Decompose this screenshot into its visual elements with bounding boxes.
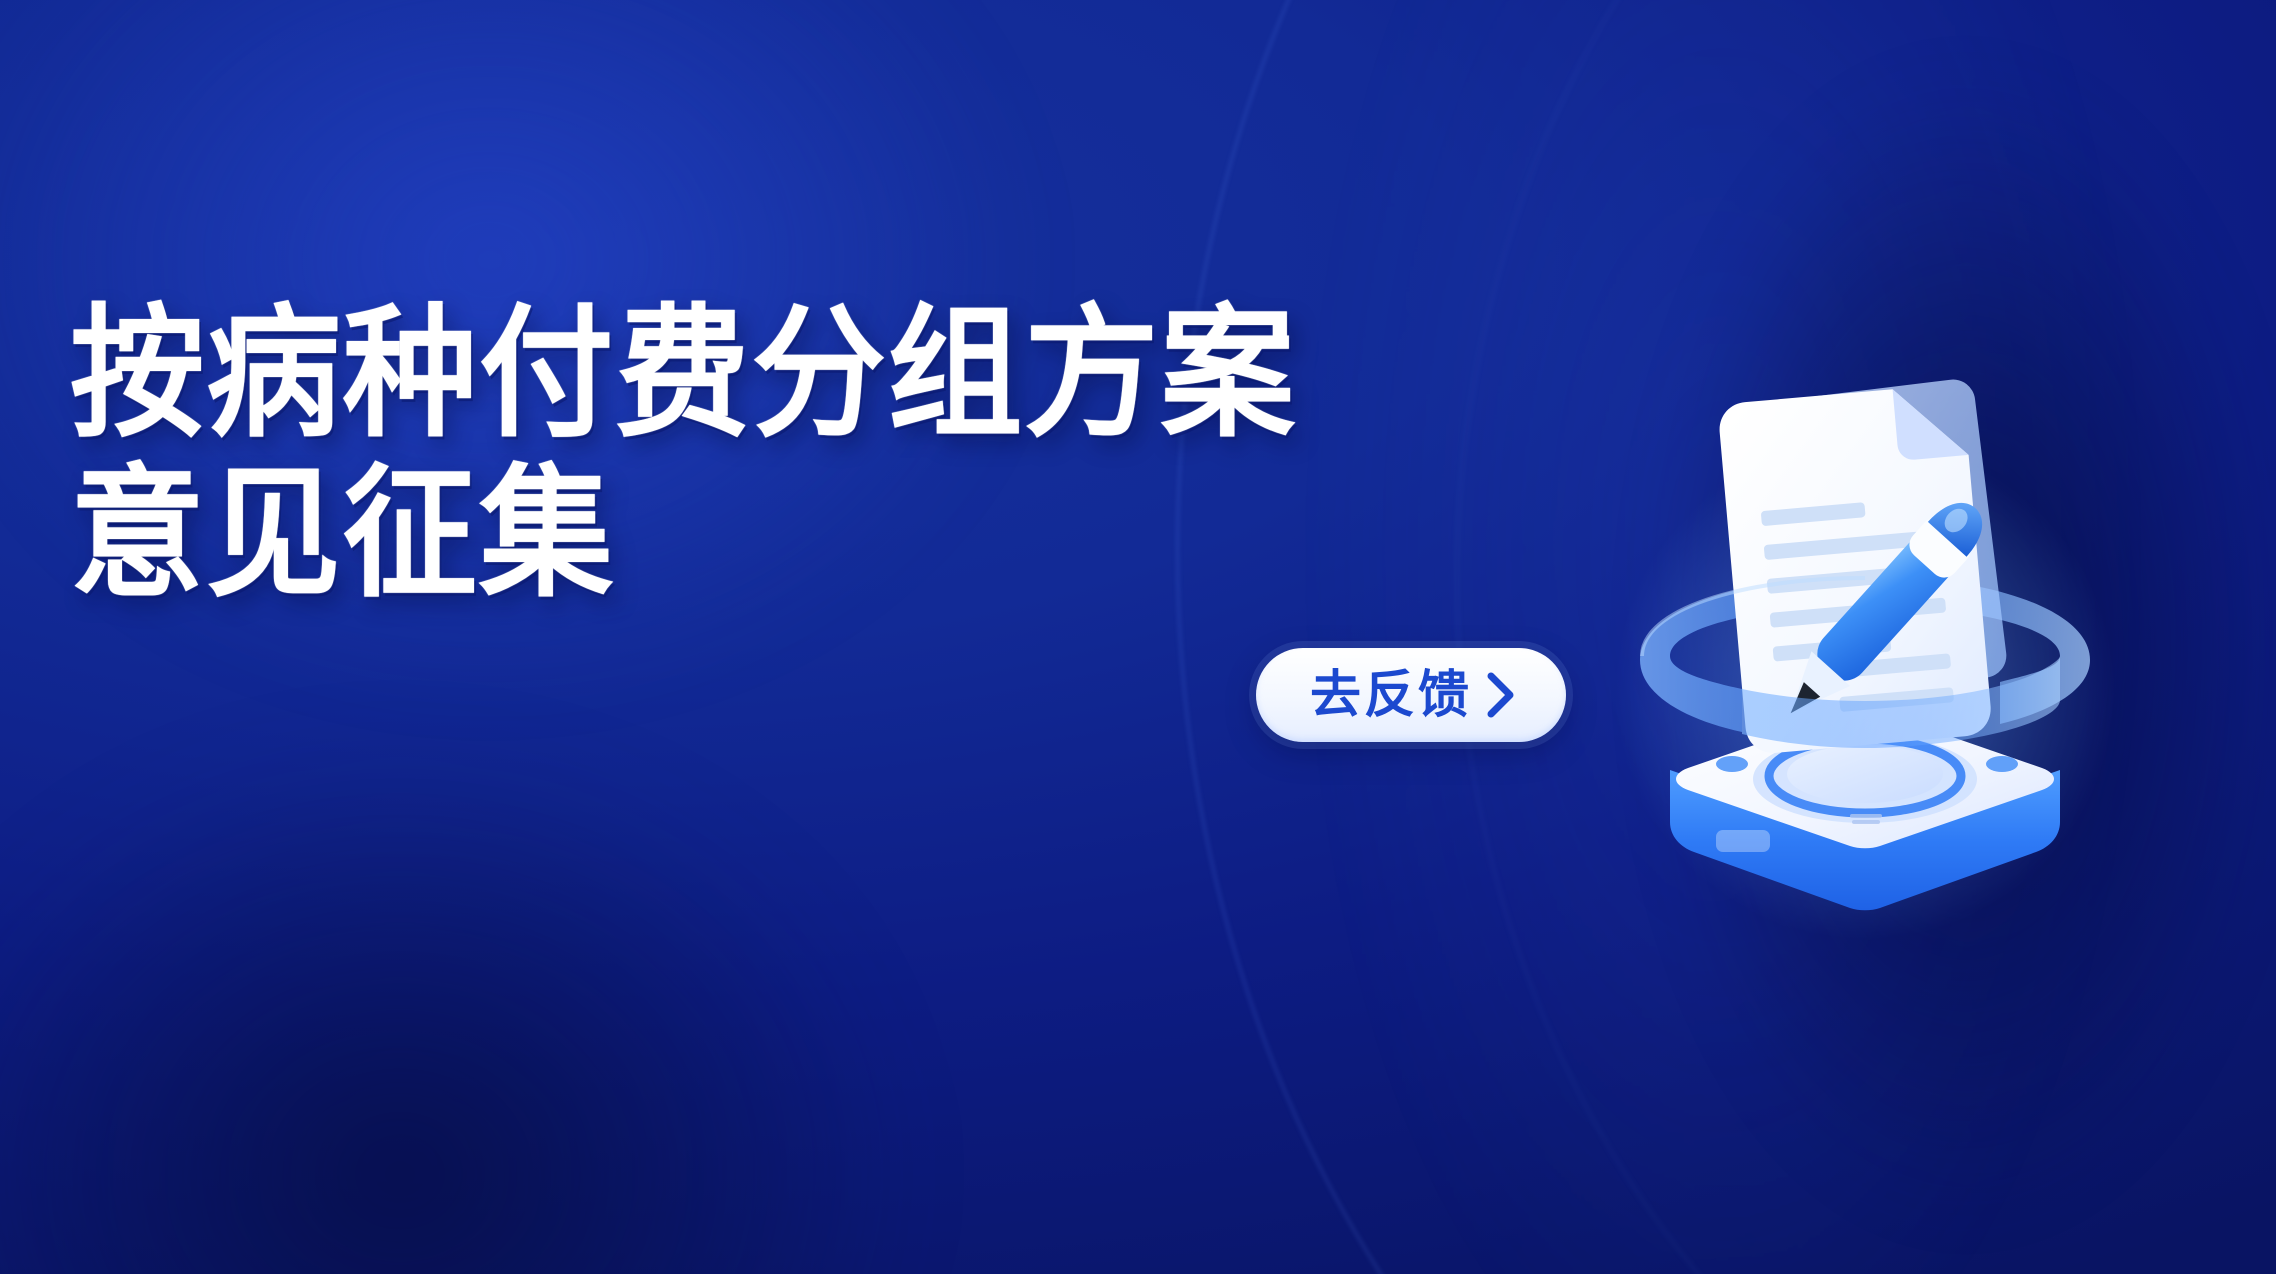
chevron-right-icon xyxy=(1486,672,1516,718)
background-vignette-bottom-left xyxy=(0,574,1100,1274)
platform-well-inner xyxy=(1787,745,1943,803)
platform-dot-right xyxy=(1986,756,2018,772)
feedback-cta-label: 去反馈 xyxy=(1310,670,1472,721)
headline-line-2: 意见征集 xyxy=(70,460,1297,608)
platform-dot-left xyxy=(1716,756,1748,772)
headline-block: 按病种付费分组方案 意见征集 xyxy=(70,300,1375,608)
promo-banner: 按病种付费分组方案 意见征集 去反馈 xyxy=(0,0,2276,1274)
platform-label-slot xyxy=(1716,830,1770,852)
document-with-pencil-on-platform-illustration xyxy=(1630,360,2100,920)
feedback-cta-button[interactable]: 去反馈 xyxy=(1256,648,1566,742)
headline-line-1: 按病种付费分组方案 xyxy=(70,300,1297,448)
